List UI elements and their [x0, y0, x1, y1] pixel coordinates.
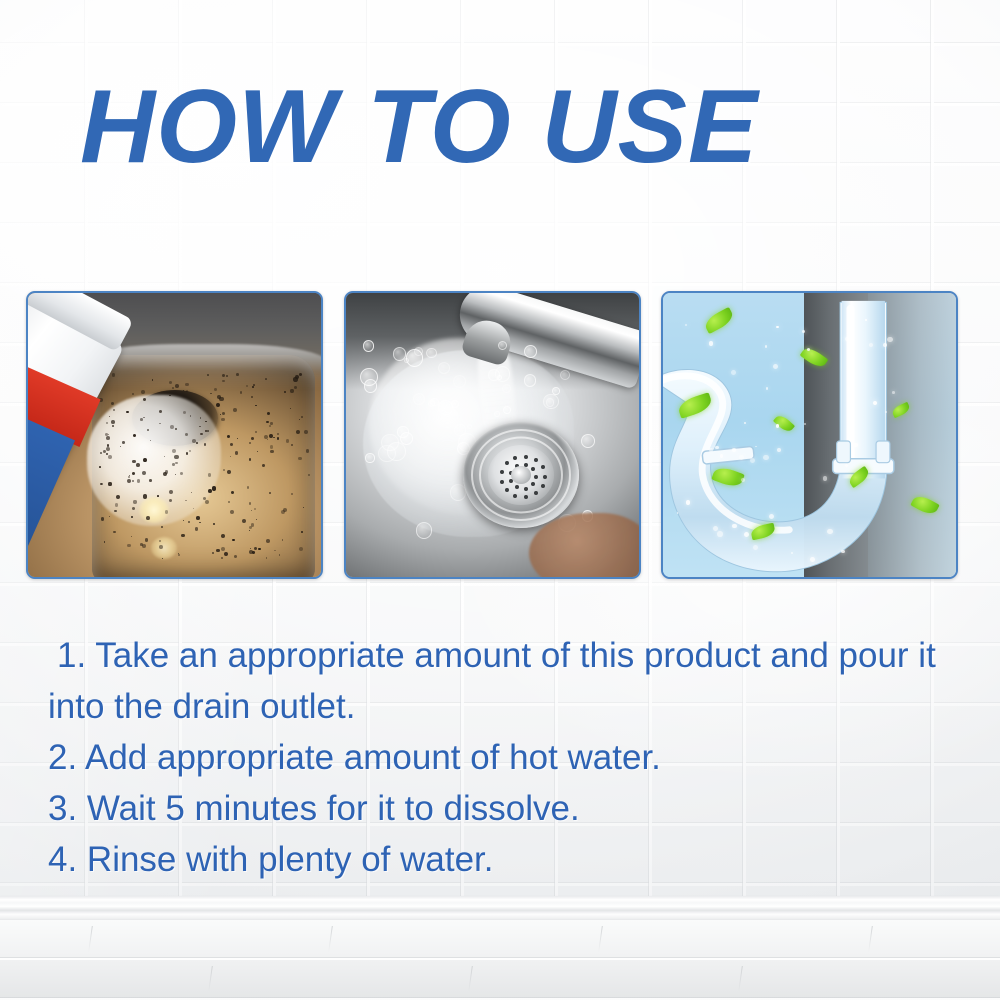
strainer-basket [488, 445, 554, 505]
page-title: HOW TO USE [80, 72, 758, 182]
instruction-list: 1. Take an appropriate amount of this pr… [48, 630, 978, 885]
instruction-step-2: 2. Add appropriate amount of hot water. [48, 732, 978, 783]
instruction-step-3: 3. Wait 5 minutes for it to dissolve. [48, 783, 978, 834]
panel-pour-product[interactable]: LO GE [26, 291, 323, 579]
dirty-sink-photo: LO GE [28, 293, 321, 577]
instruction-step-1: 1. Take an appropriate amount of this pr… [48, 630, 978, 732]
floor-tiles [0, 920, 1000, 1000]
panel-row: LO GE [26, 291, 958, 581]
panel-clean-pipe[interactable] [661, 291, 958, 579]
p-trap-pipe-graphic [663, 293, 956, 577]
clean-drain-pipe-illustration [663, 293, 956, 577]
strainer-hub [511, 466, 531, 484]
sink-drain-strainer [463, 422, 579, 528]
panel-add-hot-water[interactable] [344, 291, 641, 579]
how-to-use-infographic: HOW TO USE LO GE [0, 0, 1000, 1000]
instruction-step-4: 4. Rinse with plenty of water. [48, 834, 978, 885]
clean-sink-photo [346, 293, 639, 577]
baseboard-molding [0, 896, 1000, 922]
